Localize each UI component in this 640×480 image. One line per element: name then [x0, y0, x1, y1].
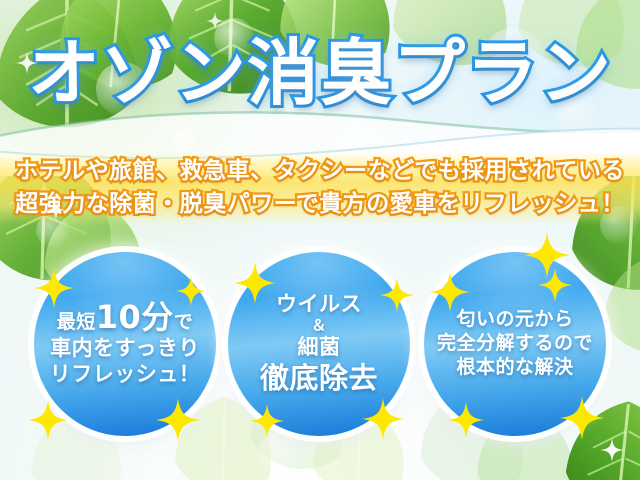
bubble-virus-line-4: 徹底除去	[260, 360, 378, 397]
bubble-odor-line-1: 匂いの元から	[456, 308, 573, 332]
banner-subtitle-band: ホテルや旅館、救急車、タクシーなどでも採用されている 超強力な除菌・脱臭パワーで…	[0, 152, 640, 225]
bubble-odor-line-2: 完全分解するので	[437, 332, 593, 356]
feature-bubble-odor: 匂いの元から 完全分解するので 根本的な解決	[424, 252, 606, 436]
bubble-speed-prefix: 最短	[57, 311, 96, 335]
banner-subtitle-line-1: ホテルや旅館、救急車、タクシーなどでも採用されている	[0, 155, 640, 188]
bubble-virus-line-1: ウイルス	[276, 291, 362, 317]
bokeh-light	[172, 128, 198, 154]
bubble-virus-ampersand: ＆	[311, 317, 327, 334]
bubble-speed-line-2: 車内をすっきり	[50, 335, 200, 361]
banner-title-wrap: オゾン消臭プラン	[0, 36, 640, 112]
feature-bubbles: 最短10分で 車内をすっきり リフレッシュ！ ウイルス ＆ 細菌 徹底除去 匂い…	[0, 252, 640, 442]
bubble-speed-line-3: リフレッシュ！	[50, 361, 201, 387]
bubble-virus-line-3: 細菌	[298, 334, 341, 360]
bubble-speed-line-1: 最短10分で	[57, 301, 194, 335]
banner-subtitle-line-2: 超強力な除菌・脱臭パワーで貴方の愛車をリフレッシュ！	[0, 188, 640, 221]
bubble-speed-number: 10分	[96, 301, 174, 333]
bubble-speed-suffix: で	[174, 311, 194, 335]
bubble-odor-line-3: 根本的な解決	[456, 356, 573, 380]
glint-icon	[206, 12, 224, 30]
banner-title: オゾン消臭プラン	[28, 36, 612, 112]
feature-bubble-virus: ウイルス ＆ 細菌 徹底除去	[228, 252, 410, 436]
feature-bubble-speed: 最短10分で 車内をすっきり リフレッシュ！	[34, 252, 216, 436]
ozone-deodorizing-plan-banner: オゾン消臭プラン ホテルや旅館、救急車、タクシーなどでも採用されている 超強力な…	[0, 0, 640, 480]
